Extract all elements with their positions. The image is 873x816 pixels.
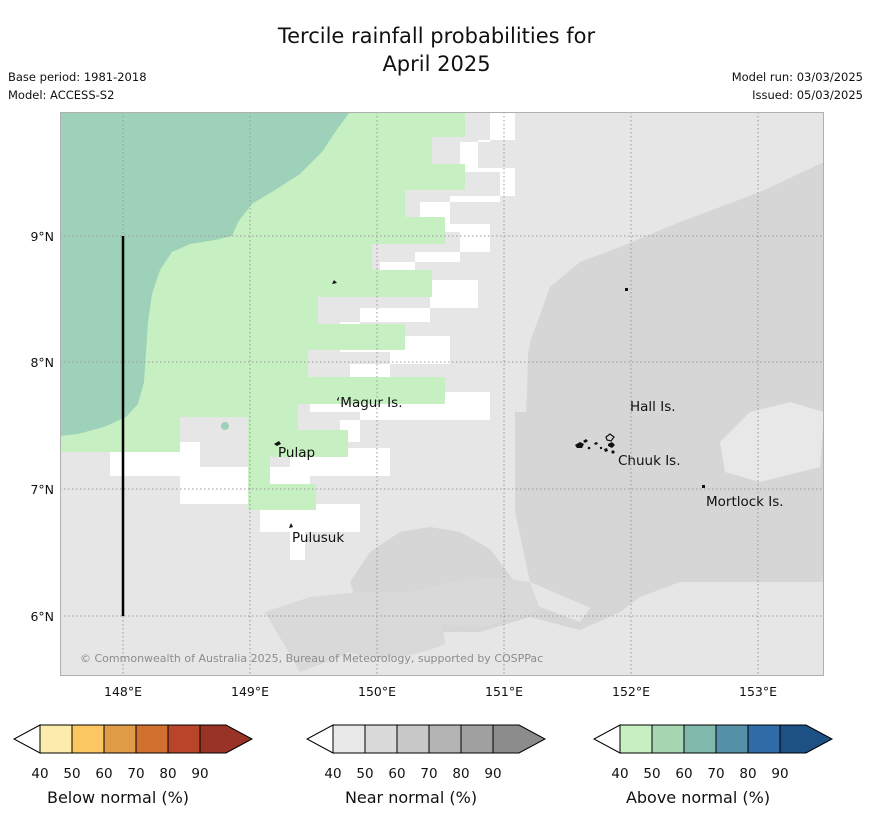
cb2-seg-80-90 bbox=[461, 725, 493, 753]
hall-island-marker bbox=[625, 288, 628, 291]
colorbar-near-normal-graphic bbox=[303, 712, 573, 764]
cb3-tick-80: 80 bbox=[739, 766, 756, 782]
x-tick-152e: 152°E bbox=[612, 684, 650, 699]
y-tick-9n: 9°N bbox=[5, 229, 60, 244]
cb3-tick-60: 60 bbox=[675, 766, 692, 782]
title-line-1: Tercile rainfall probabilities for bbox=[278, 24, 595, 48]
colorbar-below-normal-title: Below normal (%) bbox=[0, 788, 253, 807]
cb1-extend-min bbox=[14, 725, 40, 753]
place-label-pulap: Pulap bbox=[278, 445, 315, 461]
place-label-pulusuk: Pulusuk bbox=[292, 530, 344, 546]
colorbar-below-normal-graphic bbox=[10, 712, 280, 764]
cb2-seg-70-80 bbox=[429, 725, 461, 753]
y-tick-6n: 6°N bbox=[5, 609, 60, 624]
colorbar-above-normal-graphic bbox=[590, 712, 860, 764]
cb1-extend-max bbox=[200, 725, 252, 753]
cb3-tick-70: 70 bbox=[707, 766, 724, 782]
cb1-tick-50: 50 bbox=[63, 766, 80, 782]
x-tick-149e: 149°E bbox=[231, 684, 269, 699]
figure-root: Tercile rainfall probabilities for April… bbox=[0, 0, 873, 816]
cb1-tick-70: 70 bbox=[127, 766, 144, 782]
issued-text: Issued: 05/03/2025 bbox=[752, 88, 863, 102]
cb2-tick-90: 90 bbox=[484, 766, 501, 782]
x-tick-150e: 150°E bbox=[358, 684, 396, 699]
cb2-seg-60-70 bbox=[397, 725, 429, 753]
colorbar-near-normal-title: Near normal (%) bbox=[276, 788, 546, 807]
cb3-seg-80-90 bbox=[748, 725, 780, 753]
colorbar-near-normal-ticks: 40 50 60 70 80 90 bbox=[303, 766, 573, 784]
cb3-extend-min bbox=[594, 725, 620, 753]
place-label-chuuk-is: Chuuk Is. bbox=[618, 453, 681, 469]
cb2-seg-50-60 bbox=[365, 725, 397, 753]
colorbar-above-normal[interactable]: 40 50 60 70 80 90 Above normal (%) bbox=[590, 712, 860, 812]
cb3-seg-70-80 bbox=[716, 725, 748, 753]
colorbar-below-normal-ticks: 40 50 60 70 80 90 bbox=[10, 766, 280, 784]
cb2-extend-min bbox=[307, 725, 333, 753]
y-tick-8n: 8°N bbox=[5, 355, 60, 370]
cb3-tick-90: 90 bbox=[771, 766, 788, 782]
cb3-seg-50-60 bbox=[652, 725, 684, 753]
model-run-text: Model run: 03/03/2025 bbox=[732, 70, 863, 84]
cb2-tick-50: 50 bbox=[356, 766, 373, 782]
cb1-seg-40-50 bbox=[40, 725, 72, 753]
mortlock-island-marker bbox=[702, 485, 705, 488]
map-graphic bbox=[60, 112, 824, 676]
colorbar-near-normal[interactable]: 40 50 60 70 80 90 Near normal (%) bbox=[303, 712, 573, 812]
cb2-tick-60: 60 bbox=[388, 766, 405, 782]
colorbar-above-normal-title: Above normal (%) bbox=[563, 788, 833, 807]
cb1-tick-80: 80 bbox=[159, 766, 176, 782]
cb1-tick-90: 90 bbox=[191, 766, 208, 782]
place-label-mortlock-is: Mortlock Is. bbox=[706, 494, 784, 510]
x-tick-148e: 148°E bbox=[104, 684, 142, 699]
x-tick-151e: 151°E bbox=[485, 684, 523, 699]
y-tick-7n: 7°N bbox=[5, 482, 60, 497]
cb2-tick-70: 70 bbox=[420, 766, 437, 782]
map-panel[interactable]: ʻMagur Is. Hall Is. Chuuk Is. Mortlock I… bbox=[60, 112, 824, 676]
cb3-extend-max bbox=[780, 725, 832, 753]
cb1-seg-80-90 bbox=[168, 725, 200, 753]
cb2-seg-40-50 bbox=[333, 725, 365, 753]
x-axis-labels: 148°E 149°E 150°E 151°E 152°E 153°E bbox=[0, 684, 873, 704]
x-tick-153e: 153°E bbox=[739, 684, 777, 699]
cb2-tick-80: 80 bbox=[452, 766, 469, 782]
cb3-tick-50: 50 bbox=[643, 766, 660, 782]
cb3-tick-40: 40 bbox=[611, 766, 628, 782]
cb2-tick-40: 40 bbox=[324, 766, 341, 782]
place-label-hall-is: Hall Is. bbox=[630, 399, 676, 415]
cb1-tick-60: 60 bbox=[95, 766, 112, 782]
cb2-extend-max bbox=[493, 725, 545, 753]
cb3-seg-40-50 bbox=[620, 725, 652, 753]
cb3-seg-60-70 bbox=[684, 725, 716, 753]
copyright-text: © Commonwealth of Australia 2025, Bureau… bbox=[80, 652, 543, 665]
place-label-magur-is: ʻMagur Is. bbox=[336, 395, 403, 411]
region-above-normal-dot bbox=[221, 422, 229, 430]
cb1-seg-50-60 bbox=[72, 725, 104, 753]
cb1-tick-40: 40 bbox=[31, 766, 48, 782]
colorbar-above-normal-ticks: 40 50 60 70 80 90 bbox=[590, 766, 860, 784]
colorbar-below-normal[interactable]: 40 50 60 70 80 90 Below normal (%) bbox=[10, 712, 280, 812]
cb1-seg-60-70 bbox=[104, 725, 136, 753]
cb1-seg-70-80 bbox=[136, 725, 168, 753]
